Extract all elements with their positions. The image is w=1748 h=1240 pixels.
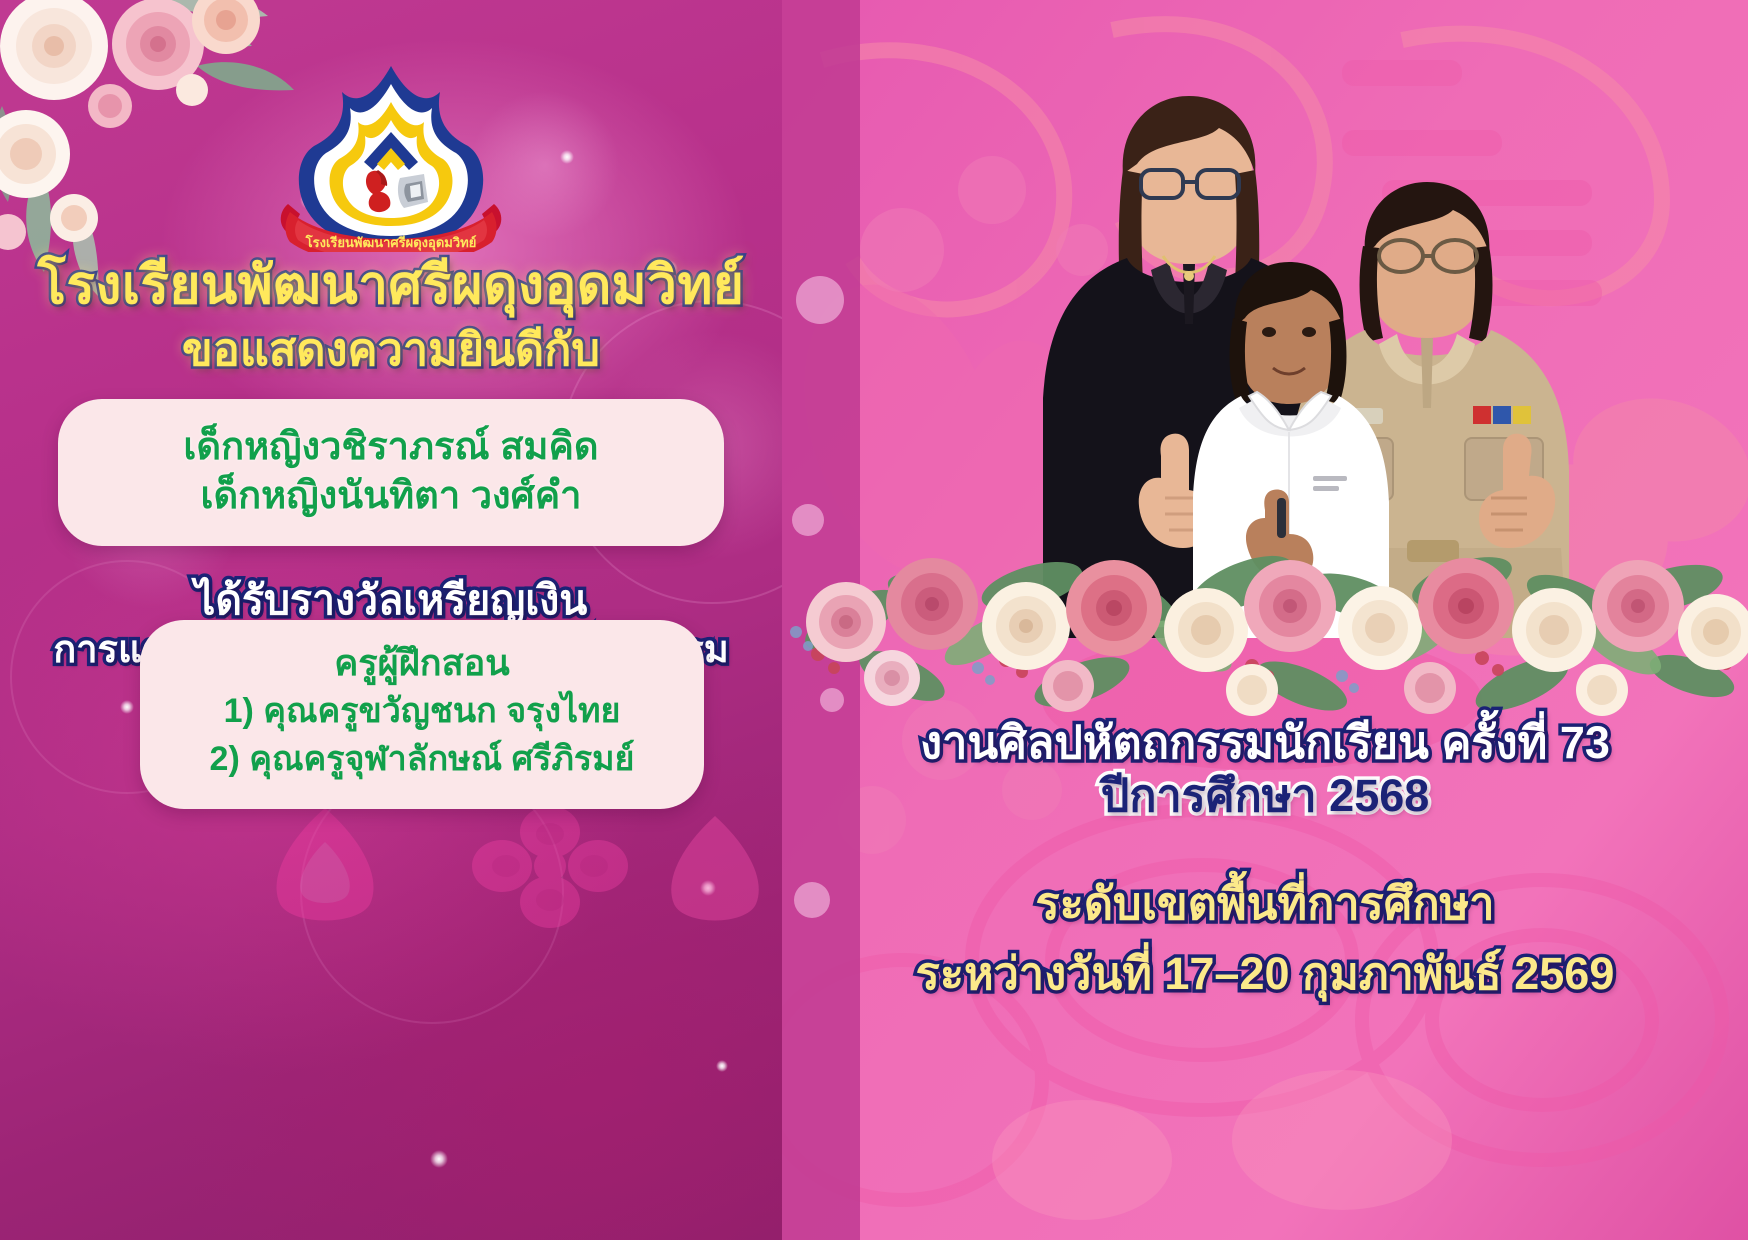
student-name: เด็กหญิงนันทิตา วงศ์คำ bbox=[84, 472, 698, 521]
event-name-text: งานศิลปหัตถกรรมนักเรียน ครั้งที่ 73 bbox=[782, 718, 1748, 768]
event-info-block: งานศิลปหัตถกรรมนักเรียน ครั้งที่ 73 ปีกา… bbox=[782, 718, 1748, 1002]
left-panel: โรงเรียนพัฒนาศรีผดุงอุดมวิทย์ โรงเรียนพั… bbox=[0, 0, 782, 1240]
school-logo-container: โรงเรียนพัฒนาศรีผดุงอุดมวิทย์ bbox=[0, 62, 782, 252]
student-name: เด็กหญิงวชิราภรณ์ สมคิด bbox=[84, 423, 698, 472]
thai-flower-motif-decor bbox=[460, 790, 640, 940]
school-name-heading: โรงเรียนพัฒนาศรีผดุงอุดมวิทย์ bbox=[0, 258, 782, 314]
teachers-title: ครูผู้ฝึกสอน bbox=[160, 640, 684, 687]
sparkle-decor bbox=[700, 880, 716, 896]
thai-motif-decor bbox=[650, 810, 780, 930]
sparkle-decor bbox=[716, 1060, 728, 1072]
school-crest-icon: โรงเรียนพัฒนาศรีผดุงอุดมวิทย์ bbox=[272, 62, 510, 252]
award-medal-text: ได้รับรางวัลเหรียญเงิน bbox=[0, 578, 782, 624]
right-panel: งานศิลปหัตถกรรมนักเรียน ครั้งที่ 73 ปีกา… bbox=[782, 0, 1748, 1240]
student-names-card: เด็กหญิงวชิราภรณ์ สมคิด เด็กหญิงนันทิตา … bbox=[58, 399, 724, 546]
academic-year-text: ปีการศึกษา 2568 bbox=[782, 768, 1748, 824]
award-photo bbox=[897, 78, 1597, 638]
competition-level-text: ระดับเขตพื้นที่การศึกษา bbox=[782, 876, 1748, 932]
teachers-card: ครูผู้ฝึกสอน 1) คุณครูขวัญชนก จรุงไทย 2)… bbox=[140, 620, 704, 809]
sparkle-decor bbox=[430, 1150, 448, 1168]
congratulations-heading: ขอแสดงความยินดีกับ bbox=[0, 326, 782, 373]
event-dates-text: ระหว่างวันที่ 17–20 กุมภาพันธ์ 2569 bbox=[782, 946, 1748, 1002]
thai-motif-decor bbox=[250, 800, 400, 930]
teacher-name: 1) คุณครูขวัญชนก จรุงไทย bbox=[160, 687, 684, 735]
crest-ribbon-text: โรงเรียนพัฒนาศรีผดุงอุดมวิทย์ bbox=[305, 234, 477, 251]
congratulation-poster: โรงเรียนพัฒนาศรีผดุงอุดมวิทย์ โรงเรียนพั… bbox=[0, 0, 1748, 1240]
teacher-name: 2) คุณครูจุฬาลักษณ์ ศรีภิรมย์ bbox=[160, 735, 684, 783]
